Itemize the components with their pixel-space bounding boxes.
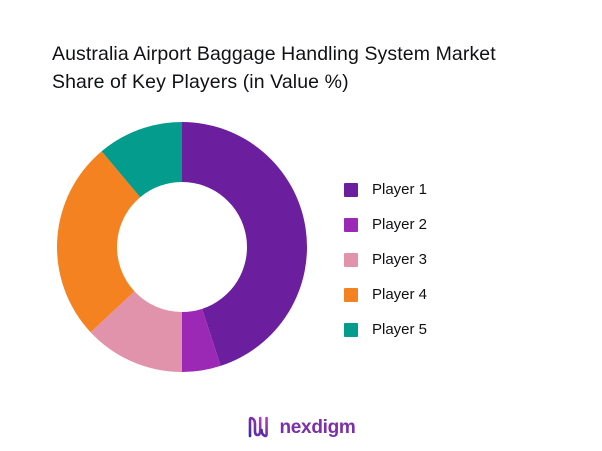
brand-logo: nexdigm (0, 415, 602, 439)
legend-item-label: Player 5 (372, 321, 427, 338)
chart-card: Australia Airport Baggage Handling Syste… (0, 0, 602, 451)
legend-swatch-icon (344, 323, 358, 337)
donut-slice-group (57, 122, 307, 372)
legend-swatch-icon (344, 288, 358, 302)
page-title: Australia Airport Baggage Handling Syste… (52, 40, 562, 96)
legend-item-label: Player 4 (372, 286, 427, 303)
donut-chart (57, 122, 307, 372)
legend-item-label: Player 3 (372, 251, 427, 268)
donut-chart-svg (57, 122, 307, 372)
legend-item[interactable]: Player 5 (344, 312, 514, 347)
legend-swatch-icon (344, 253, 358, 267)
legend-item[interactable]: Player 4 (344, 277, 514, 312)
legend-swatch-icon (344, 183, 358, 197)
legend-item-label: Player 2 (372, 216, 427, 233)
legend-item-label: Player 1 (372, 181, 427, 198)
legend-swatch-icon (344, 218, 358, 232)
legend-item[interactable]: Player 2 (344, 207, 514, 242)
legend-item[interactable]: Player 3 (344, 242, 514, 277)
wave-n-icon (246, 415, 272, 439)
brand-wordmark: nexdigm (279, 418, 355, 437)
legend-item[interactable]: Player 1 (344, 172, 514, 207)
chart-legend: Player 1Player 2Player 3Player 4Player 5 (344, 172, 514, 347)
